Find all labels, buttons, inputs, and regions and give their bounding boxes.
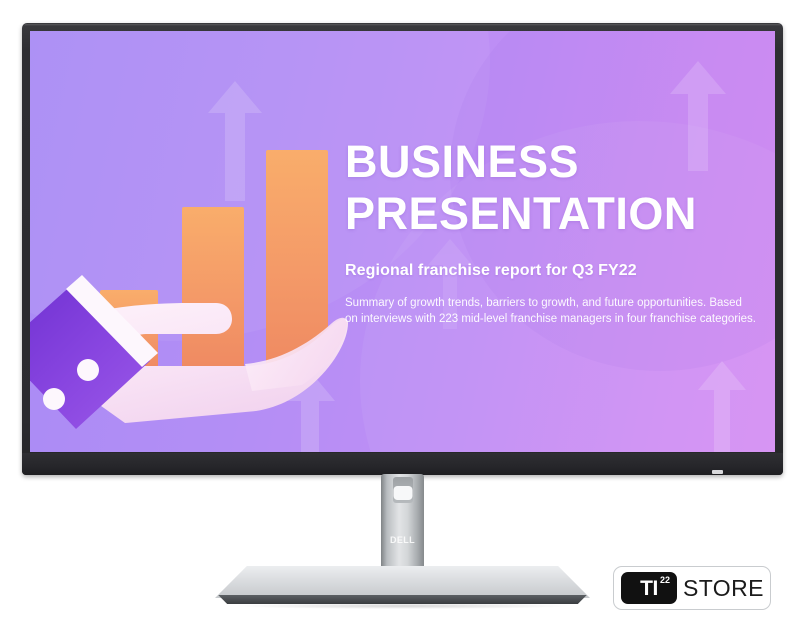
base-top-plate xyxy=(215,566,590,598)
bezel-bottom-chin xyxy=(22,453,783,475)
cuff-button-2 xyxy=(43,388,65,410)
store-logo-word: STORE xyxy=(683,577,764,600)
store-logo-mark: TI xyxy=(640,578,658,599)
slide-body-text: Summary of growth trends, barriers to gr… xyxy=(345,296,757,327)
cuff-button-1 xyxy=(77,359,99,381)
slide-title-line2: PRESENTATION xyxy=(345,188,697,239)
dell-monitor: BUSINESS PRESENTATION Regional franchise… xyxy=(22,23,783,475)
power-indicator-led[interactable] xyxy=(712,470,723,474)
store-logo-badge: TI 22 xyxy=(621,572,677,604)
bezel-top-highlight xyxy=(24,24,781,26)
slide-subtitle: Regional franchise report for Q3 FY22 xyxy=(345,262,757,280)
monitor-base xyxy=(215,566,590,612)
open-hand-graphic xyxy=(30,31,350,452)
monitor-stand-neck: DELL xyxy=(381,474,424,572)
dell-brand-logo: DELL xyxy=(390,535,415,545)
slide-title: BUSINESS PRESENTATION xyxy=(345,136,757,240)
growth-illustration xyxy=(30,31,350,452)
decor-arrow-4 xyxy=(698,361,746,452)
slide-title-line1: BUSINESS xyxy=(345,136,579,187)
store-logo: TI 22 STORE xyxy=(613,566,771,610)
slide-text-block: BUSINESS PRESENTATION Regional franchise… xyxy=(345,136,757,327)
store-logo-superscript: 22 xyxy=(660,576,670,585)
base-drop-shadow xyxy=(237,603,569,609)
stand-cable-hole xyxy=(393,486,412,500)
monitor-screen: BUSINESS PRESENTATION Regional franchise… xyxy=(30,31,775,452)
